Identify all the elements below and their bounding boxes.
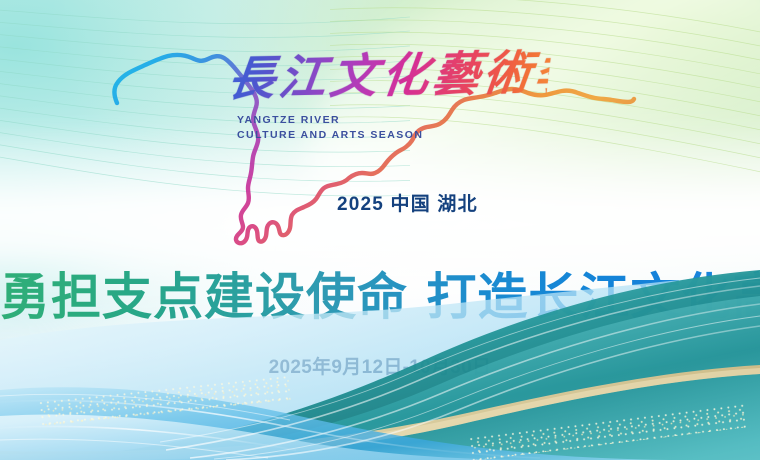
year-location-label: 2025 中国 湖北 bbox=[337, 189, 478, 216]
english-subtitle: YANGTZE RIVER CULTURE AND ARTS SEASON bbox=[237, 113, 423, 143]
gold-glitter-accent bbox=[470, 403, 751, 460]
calligraphy-title-text: 長江文化藝術季 bbox=[224, 39, 553, 114]
date-range-label: 2025年9月12日-10月30日 bbox=[0, 352, 760, 379]
english-subtitle-line2: CULTURE AND ARTS SEASON bbox=[237, 128, 423, 143]
poster-canvas: 長江文化藝術季 YANGTZE RIVER CULTURE AND ARTS S… bbox=[0, 0, 760, 460]
english-subtitle-line1: YANGTZE RIVER bbox=[237, 113, 423, 128]
calligraphy-title: 長江文化藝術季 bbox=[228, 46, 548, 116]
main-headline: 勇担支点建设使命 打造长江文化高地 bbox=[0, 266, 760, 328]
gold-glitter-accent bbox=[39, 375, 290, 427]
